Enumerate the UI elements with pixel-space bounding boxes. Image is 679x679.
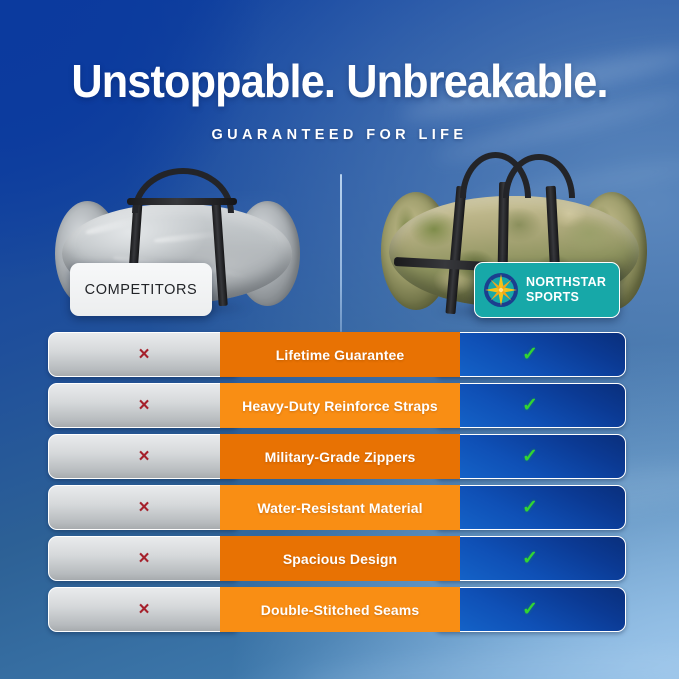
table-row: ×✓Military-Grade Zippers xyxy=(48,434,626,479)
feature-label: Military-Grade Zippers xyxy=(265,449,416,465)
competitor-cell: × xyxy=(48,485,240,530)
cross-icon: × xyxy=(138,549,149,568)
check-icon: ✓ xyxy=(522,549,538,568)
brand-name-line2: SPORTS xyxy=(526,290,579,304)
brand-cell: ✓ xyxy=(434,536,626,581)
feature-label-cell: Water-Resistant Material xyxy=(220,485,460,530)
table-row: ×✓Heavy-Duty Reinforce Straps xyxy=(48,383,626,428)
bag-handle-base xyxy=(127,198,237,205)
feature-label-cell: Lifetime Guarantee xyxy=(220,332,460,377)
feature-comparison-table: ×✓Lifetime Guarantee×✓Heavy-Duty Reinfor… xyxy=(48,332,626,638)
feature-label-cell: Double-Stitched Seams xyxy=(220,587,460,632)
cross-icon: × xyxy=(138,447,149,466)
cross-icon: × xyxy=(138,345,149,364)
brand-cell: ✓ xyxy=(434,332,626,377)
competitors-badge-label: COMPETITORS xyxy=(85,282,198,298)
check-icon: ✓ xyxy=(522,498,538,517)
feature-label-cell: Spacious Design xyxy=(220,536,460,581)
competitor-cell: × xyxy=(48,587,240,632)
table-row: ×✓Water-Resistant Material xyxy=(48,485,626,530)
feature-label-cell: Military-Grade Zippers xyxy=(220,434,460,479)
competitors-badge: COMPETITORS xyxy=(70,263,212,316)
column-divider xyxy=(340,174,342,332)
competitor-cell: × xyxy=(48,434,240,479)
brand-cell: ✓ xyxy=(434,383,626,428)
brand-cell: ✓ xyxy=(434,485,626,530)
feature-label: Lifetime Guarantee xyxy=(276,347,405,363)
subheadline: GUARANTEED FOR LIFE xyxy=(0,127,679,143)
brand-cell: ✓ xyxy=(434,434,626,479)
cross-icon: × xyxy=(138,396,149,415)
check-icon: ✓ xyxy=(522,600,538,619)
brand-cell: ✓ xyxy=(434,587,626,632)
brand-badge: NORTHSTAR SPORTS xyxy=(474,262,620,318)
table-row: ×✓Spacious Design xyxy=(48,536,626,581)
bag-handle xyxy=(132,168,234,213)
cross-icon: × xyxy=(138,498,149,517)
brand-badge-label: NORTHSTAR SPORTS xyxy=(526,275,606,305)
table-row: ×✓Lifetime Guarantee xyxy=(48,332,626,377)
comparison-infographic: Unstoppable. Unbreakable. GUARANTEED FOR… xyxy=(0,0,679,679)
check-icon: ✓ xyxy=(522,447,538,466)
check-icon: ✓ xyxy=(522,396,538,415)
compass-star-logo xyxy=(481,270,521,310)
brand-name-line1: NORTHSTAR xyxy=(526,275,606,289)
feature-label: Spacious Design xyxy=(283,551,397,567)
feature-label: Water-Resistant Material xyxy=(257,500,422,516)
headline: Unstoppable. Unbreakable. xyxy=(20,57,658,105)
competitor-cell: × xyxy=(48,332,240,377)
feature-label: Heavy-Duty Reinforce Straps xyxy=(242,398,438,414)
feature-label: Double-Stitched Seams xyxy=(261,602,419,618)
competitor-cell: × xyxy=(48,536,240,581)
cross-icon: × xyxy=(138,600,149,619)
competitor-cell: × xyxy=(48,383,240,428)
table-row: ×✓Double-Stitched Seams xyxy=(48,587,626,632)
feature-label-cell: Heavy-Duty Reinforce Straps xyxy=(220,383,460,428)
check-icon: ✓ xyxy=(522,345,538,364)
